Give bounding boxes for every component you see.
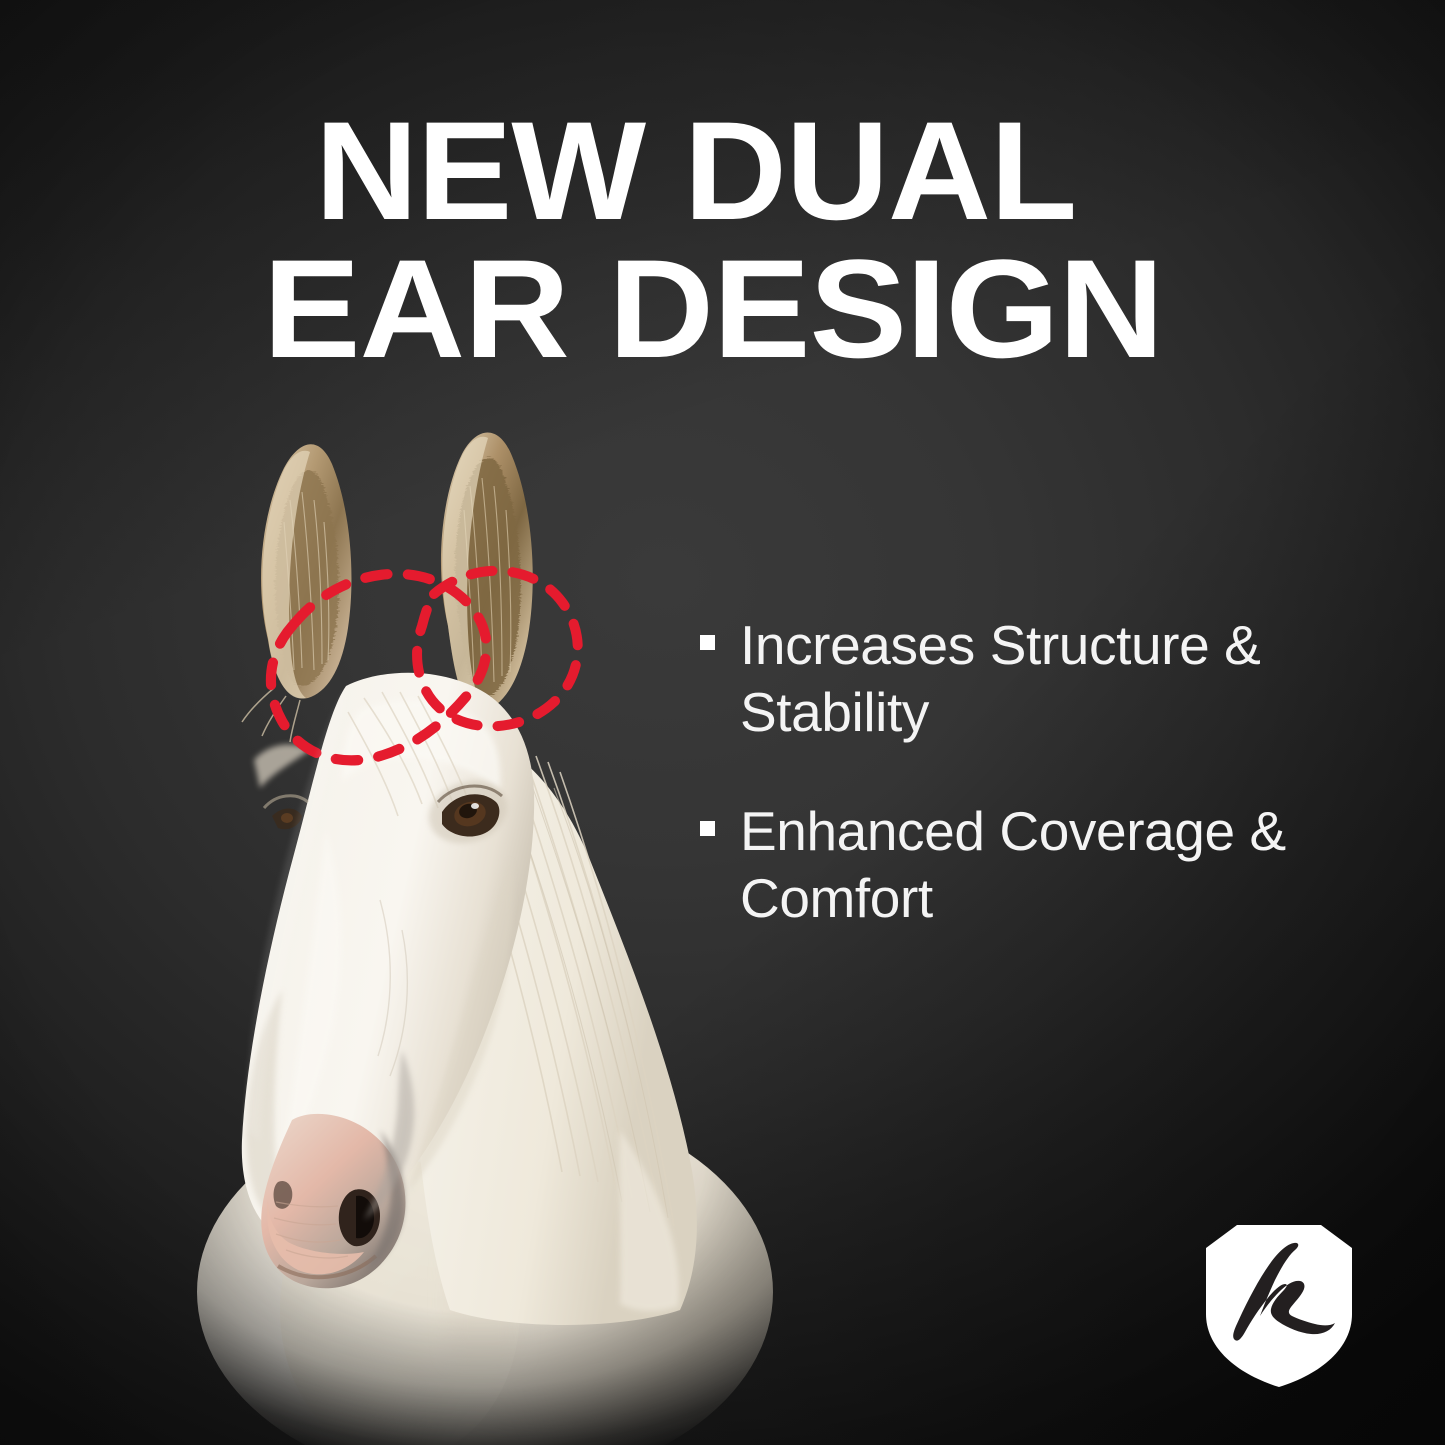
brand-logo [1203,1222,1355,1390]
horse-photo [150,430,770,1440]
list-item: Increases Structure & Stability [700,612,1360,746]
list-item: Enhanced Coverage & Comfort [700,798,1360,932]
headline-block: NEW DUAL EAR DESIGN [263,104,1203,377]
square-bullet-icon [700,821,715,836]
bullet-text-2: Enhanced Coverage & Comfort [740,800,1286,929]
headline-line-2: EAR DESIGN [263,242,1245,376]
promo-image-canvas: NEW DUAL EAR DESIGN [0,0,1445,1445]
square-bullet-icon [700,635,715,650]
headline-line-1: NEW DUAL [315,104,1221,238]
bullet-text-1: Increases Structure & Stability [740,614,1260,743]
feature-bullet-list: Increases Structure & Stability Enhanced… [700,612,1360,984]
